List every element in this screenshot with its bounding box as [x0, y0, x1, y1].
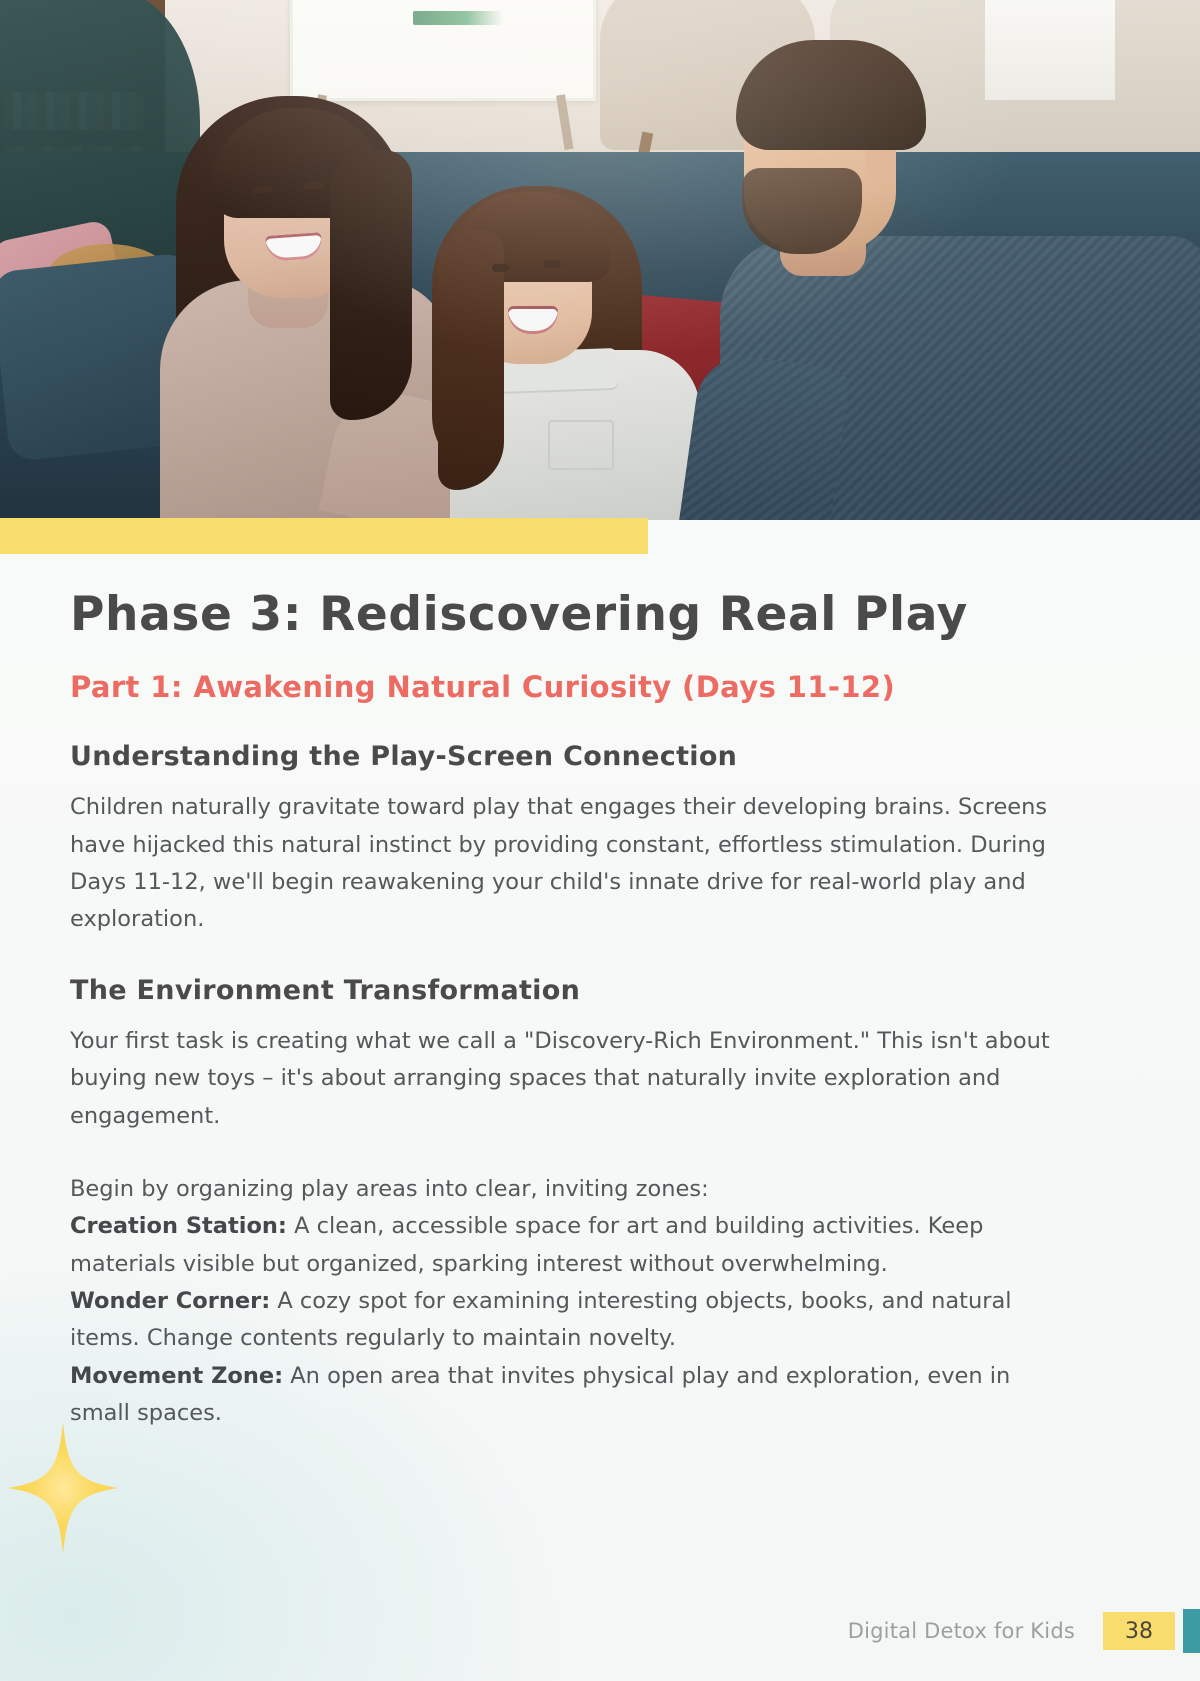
page-content: Phase 3: Rediscovering Real Play Part 1:… [70, 588, 1070, 1432]
section-paragraph-environment: Your first task is creating what we call… [70, 1023, 1070, 1135]
footer-page-number: 38 [1103, 1612, 1175, 1650]
yellow-accent-bar [0, 518, 648, 554]
section-heading-play-screen: Understanding the Play-Screen Connection [70, 741, 1070, 773]
page-footer: Digital Detox for Kids 38 [848, 1609, 1200, 1653]
sparkle-star-icon [8, 1423, 118, 1553]
hero-image [0, 0, 1200, 520]
section-heading-environment: The Environment Transformation [70, 975, 1070, 1007]
living-room-scene [0, 0, 1200, 520]
footer-book-title: Digital Detox for Kids [848, 1619, 1075, 1643]
photo-lighting-overlay [0, 0, 1200, 520]
zone-item-creation-station: Creation Station: A clean, accessible sp… [70, 1208, 1070, 1283]
zone-name-creation-station: Creation Station: [70, 1213, 287, 1239]
page-title: Phase 3: Rediscovering Real Play [70, 588, 1070, 642]
footer-teal-tab [1183, 1609, 1200, 1653]
document-page: Phase 3: Rediscovering Real Play Part 1:… [0, 0, 1200, 1681]
zone-item-movement-zone: Movement Zone: An open area that invites… [70, 1358, 1070, 1433]
part-title: Part 1: Awakening Natural Curiosity (Day… [70, 670, 1070, 705]
section-paragraph-play-screen: Children naturally gravitate toward play… [70, 789, 1070, 938]
zone-name-movement-zone: Movement Zone: [70, 1363, 283, 1389]
zone-name-wonder-corner: Wonder Corner: [70, 1288, 270, 1314]
zones-intro: Begin by organizing play areas into clea… [70, 1171, 1070, 1208]
zone-item-wonder-corner: Wonder Corner: A cozy spot for examining… [70, 1283, 1070, 1358]
